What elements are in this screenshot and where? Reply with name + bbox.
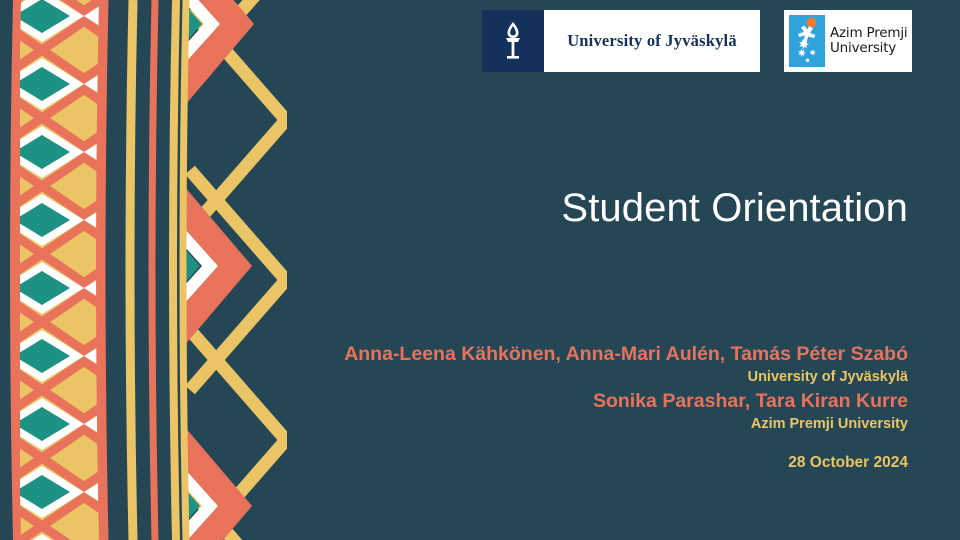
apu-wordmark-line2: University — [830, 41, 907, 57]
slide-root: University of Jyväskylä Azim Pre — [0, 0, 960, 540]
ornament-svg — [0, 0, 300, 540]
affiliation-line-jyu: University of Jyväskylä — [180, 367, 908, 388]
african-pattern-border — [0, 0, 300, 540]
author-line-jyu: Anna-Leena Kähkönen, Anna-Mari Aulén, Ta… — [180, 341, 908, 367]
people-stars-icon — [789, 15, 825, 67]
apu-wordmark: Azim Premji University — [830, 26, 907, 57]
page-title: Student Orientation — [300, 183, 908, 233]
apu-wordmark-line1: Azim Premji — [830, 26, 907, 42]
affiliation-line-apu: Azim Premji University — [180, 414, 908, 435]
logo-bar: University of Jyväskylä Azim Pre — [482, 10, 912, 72]
author-line-apu: Sonika Parashar, Tara Kiran Kurre — [180, 388, 908, 414]
jyu-wordmark: University of Jyväskylä — [544, 31, 760, 51]
university-of-jyvaskyla-logo: University of Jyväskylä — [482, 10, 760, 72]
credits-block: Anna-Leena Kähkönen, Anna-Mari Aulén, Ta… — [180, 341, 908, 435]
presentation-date: 28 October 2024 — [300, 454, 908, 472]
torch-icon — [482, 10, 544, 72]
azim-premji-university-logo: Azim Premji University — [784, 10, 912, 72]
